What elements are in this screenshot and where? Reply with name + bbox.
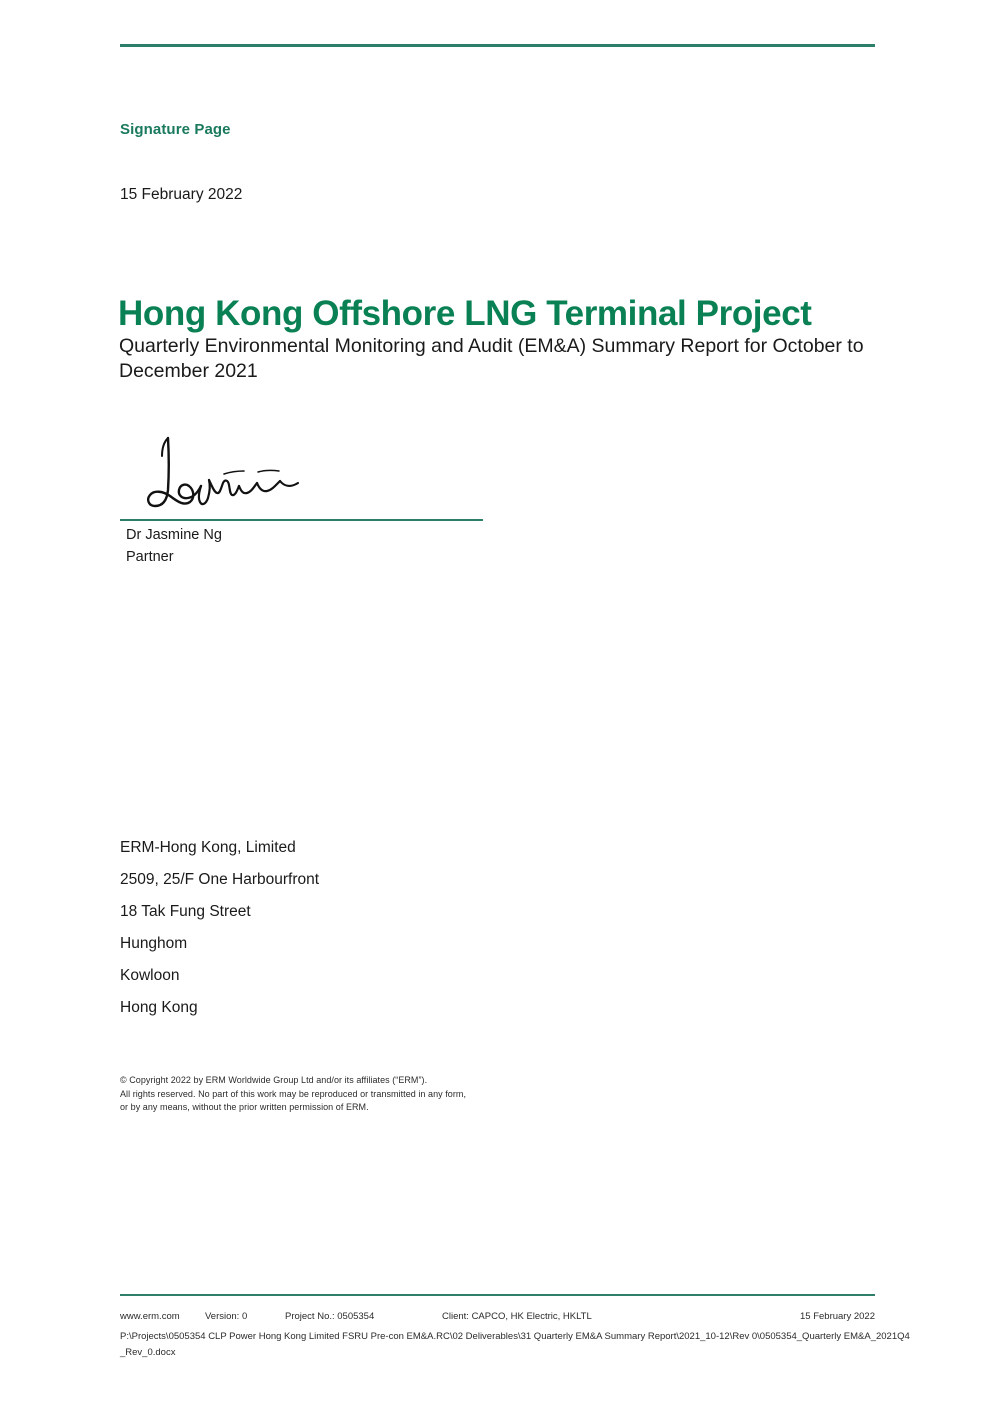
signature-ink-icon — [138, 436, 318, 520]
footer-meta: www.erm.com Version: 0 Project No.: 0505… — [120, 1311, 875, 1325]
signature-page: Signature Page 15 February 2022 Hong Kon… — [0, 0, 995, 1406]
page-title: Hong Kong Offshore LNG Terminal Project — [118, 294, 812, 334]
footer-project-no: Project No.: 0505354 — [285, 1311, 374, 1322]
address-line: Kowloon — [120, 960, 319, 992]
copyright-notice: © Copyright 2022 by ERM Worldwide Group … — [120, 1074, 466, 1115]
footer-rule — [120, 1294, 875, 1296]
address-line: ERM-Hong Kong, Limited — [120, 832, 319, 864]
document-date: 15 February 2022 — [120, 186, 242, 204]
footer-client: Client: CAPCO, HK Electric, HKLTL — [442, 1311, 592, 1322]
address-line: 18 Tak Fung Street — [120, 896, 319, 928]
address-line: Hunghom — [120, 928, 319, 960]
page-subtitle: Quarterly Environmental Monitoring and A… — [119, 334, 879, 384]
footer-file-path: P:\Projects\0505354 CLP Power Hong Kong … — [120, 1329, 910, 1361]
signature-line — [120, 519, 483, 521]
address-line: 2509, 25/F One Harbourfront — [120, 864, 319, 896]
page-kicker: Signature Page — [120, 121, 231, 138]
signatory-role: Partner — [126, 546, 222, 568]
signature-block — [120, 436, 484, 520]
footer-version: Version: 0 — [205, 1311, 247, 1322]
copyright-line: All rights reserved. No part of this wor… — [120, 1088, 466, 1102]
address-line: Hong Kong — [120, 992, 319, 1024]
signatory-name: Dr Jasmine Ng — [126, 524, 222, 546]
copyright-line: © Copyright 2022 by ERM Worldwide Group … — [120, 1074, 466, 1088]
footer-website[interactable]: www.erm.com — [120, 1311, 180, 1322]
company-address: ERM-Hong Kong, Limited 2509, 25/F One Ha… — [120, 832, 319, 1024]
signatory-details: Dr Jasmine Ng Partner — [126, 524, 222, 568]
footer-date: 15 February 2022 — [800, 1311, 875, 1322]
copyright-line: or by any means, without the prior writt… — [120, 1101, 466, 1115]
header-rule — [120, 44, 875, 47]
